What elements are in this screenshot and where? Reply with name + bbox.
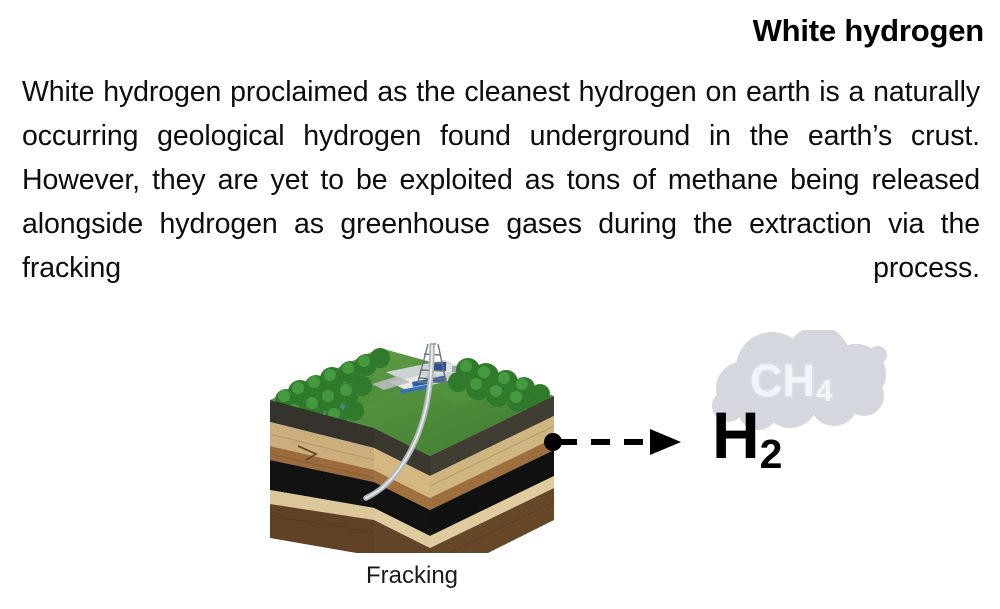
hydrogen-formula-main: H bbox=[712, 398, 759, 472]
hydrogen-formula-subscript: 2 bbox=[760, 431, 782, 477]
fracking-caption: Fracking bbox=[262, 562, 562, 590]
hydrogen-label: H2 bbox=[712, 402, 781, 475]
body-paragraph: White hydrogen proclaimed as the cleanes… bbox=[22, 70, 980, 334]
fracking-block-diagram-svg bbox=[262, 338, 562, 553]
fracking-diagram-image bbox=[262, 338, 562, 553]
methane-formula-main: CH bbox=[750, 355, 815, 406]
gas-emission-group: CH4 H2 bbox=[698, 330, 928, 510]
methane-formula-subscript: 4 bbox=[816, 375, 833, 408]
emission-arrow bbox=[540, 425, 685, 460]
page-title: White hydrogen bbox=[753, 14, 984, 48]
dashed-arrow-icon bbox=[540, 425, 685, 460]
methane-label: CH4 bbox=[750, 358, 833, 407]
figure-area: Fracking CH4 bbox=[0, 330, 1000, 609]
